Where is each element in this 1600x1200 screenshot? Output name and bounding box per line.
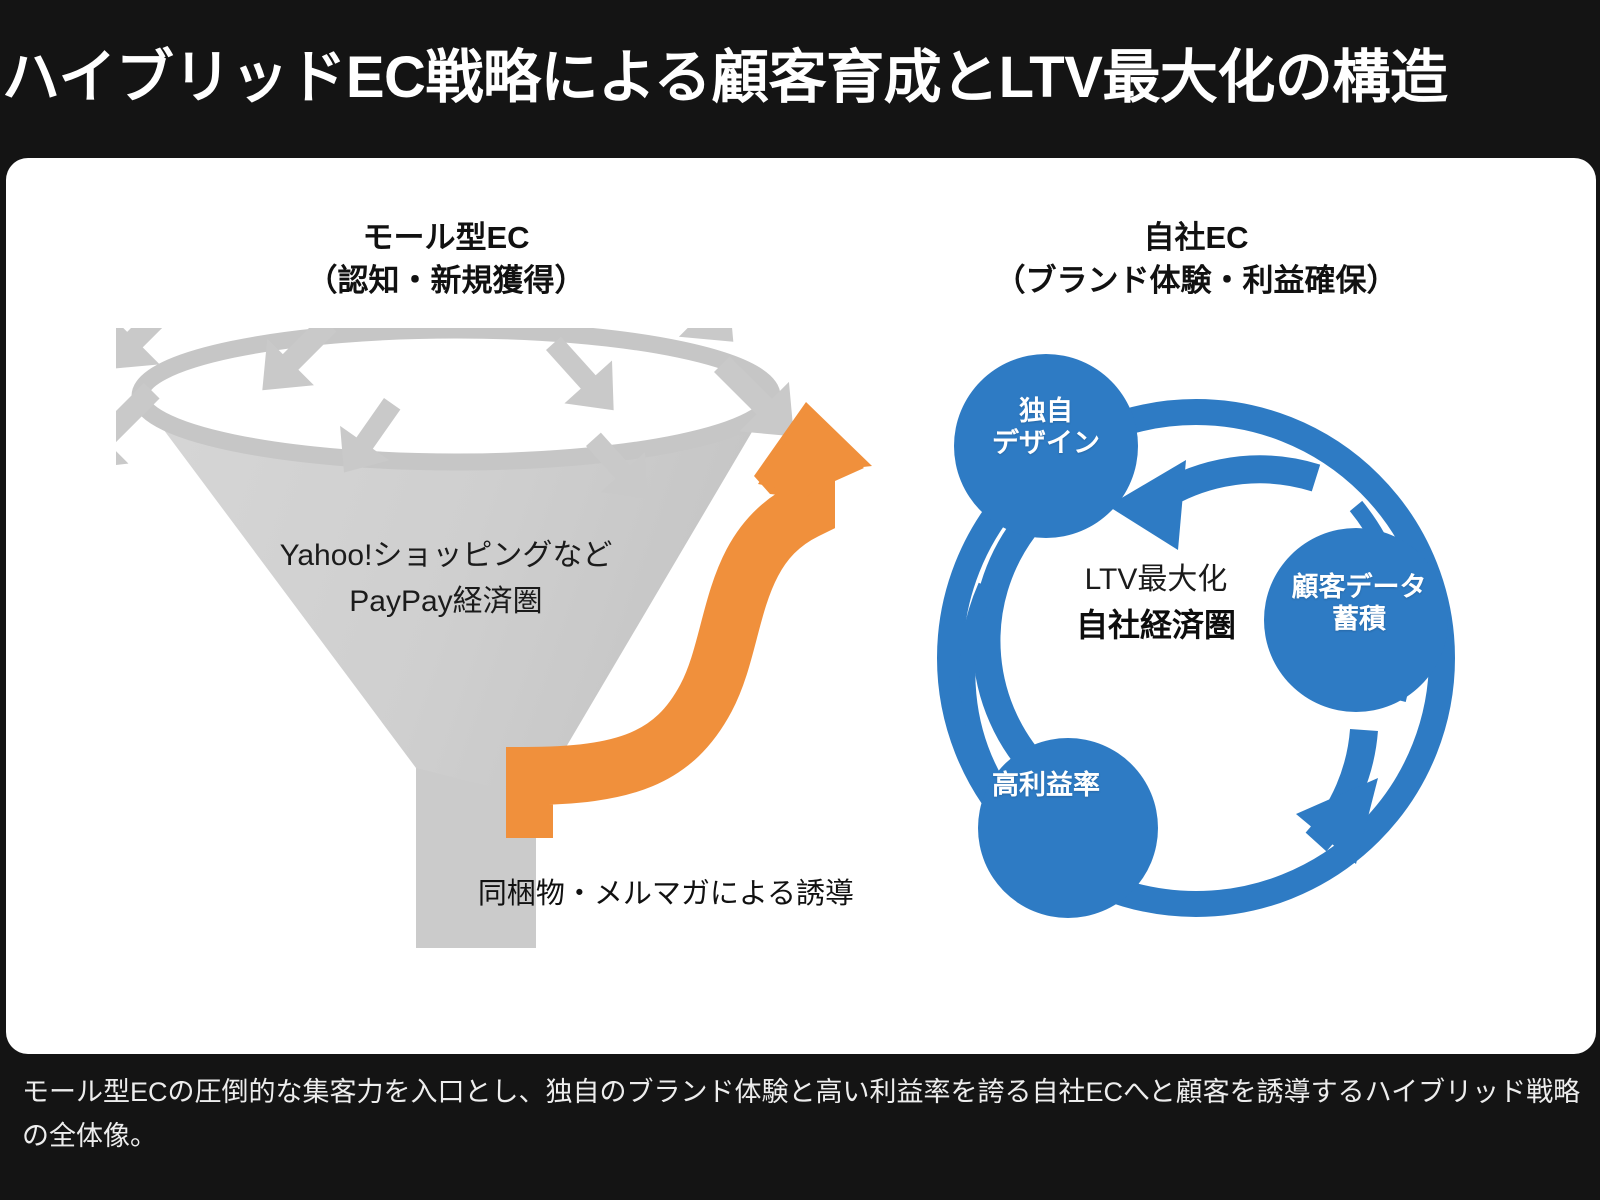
cycle-center-line1: LTV最大化 xyxy=(1006,558,1306,602)
cycle-center-line2: 自社経済圏 xyxy=(1006,602,1306,648)
own-ec-heading-line2: （ブランド体験・利益確保） xyxy=(886,259,1506,302)
cycle-center-text: LTV最大化 自社経済圏 xyxy=(1006,558,1306,648)
mall-ec-heading-line2: （認知・新規獲得） xyxy=(136,259,756,302)
mall-ec-heading: モール型EC （認知・新規獲得） xyxy=(136,216,756,302)
node-profit-label: 高利益率 xyxy=(946,770,1146,802)
own-ec-heading: 自社EC （ブランド体験・利益確保） xyxy=(886,216,1506,302)
own-ec-heading-line1: 自社EC xyxy=(886,216,1506,259)
transfer-arrow xyxy=(506,398,926,848)
mall-ec-heading-line1: モール型EC xyxy=(136,216,756,259)
node-design-label: 独自 デザイン xyxy=(946,396,1146,460)
slide-caption: モール型ECの圧倒的な集客力を入口とし、独自のブランド体験と高い利益率を誇る自社… xyxy=(22,1070,1582,1158)
transfer-caption: 同梱物・メルマガによる誘導 xyxy=(376,870,956,912)
slide-root: ハイブリッドEC戦略による顧客育成とLTV最大化の構造 xyxy=(0,0,1600,1200)
page-title: ハイブリッドEC戦略による顧客育成とLTV最大化の構造 xyxy=(0,38,1600,118)
transfer-caption-text: 同梱物・メルマガによる誘導 xyxy=(478,878,854,910)
slide-card: モール型EC （認知・新規獲得） Yahoo!ショッピングなど PayPay経済… xyxy=(6,158,1596,1054)
node-profit-circle xyxy=(978,738,1158,918)
